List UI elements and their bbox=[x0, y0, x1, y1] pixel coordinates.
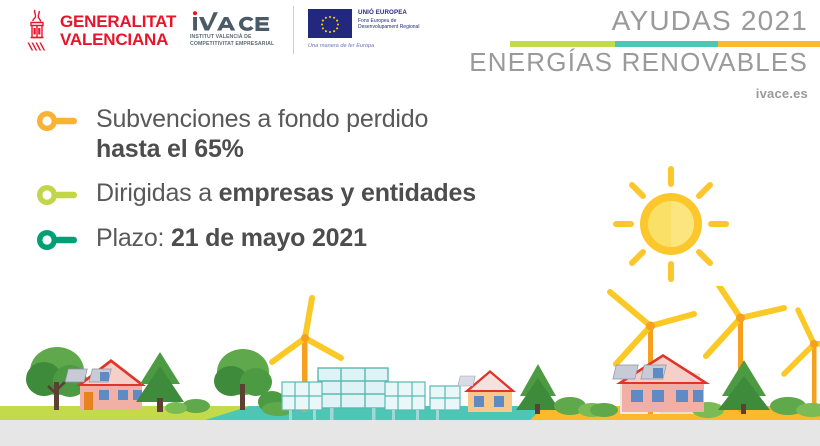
list-item: Subvenciones a fondo perdidohasta el 65% bbox=[36, 104, 596, 164]
heading-energias-renovables: ENERGÍAS RENOVABLES bbox=[388, 46, 808, 78]
ivace-logo: INSTITUT VALENCIÀ DE COMPETITIVITAT EMPR… bbox=[190, 10, 282, 48]
sun-icon bbox=[612, 165, 730, 283]
bullet-list: Subvenciones a fondo perdidohasta el 65%… bbox=[36, 104, 596, 268]
accent-bar-segment-orange bbox=[718, 41, 820, 47]
pine-tree bbox=[516, 364, 560, 414]
logo-divider bbox=[293, 6, 294, 54]
poster-canvas: GENERALITATVALENCIANA INSTITUT VALENCIÀ … bbox=[0, 0, 820, 446]
bullet-dash-icon bbox=[36, 110, 80, 132]
site-url-label: ivace.es bbox=[388, 86, 808, 101]
title-block: AYUDAS 2021 ENERGÍAS RENOVABLES ivace.es bbox=[388, 4, 808, 101]
list-item: Plazo: 21 de mayo 2021 bbox=[36, 223, 596, 254]
generalitat-valenciana-wordmark: GENERALITATVALENCIANA bbox=[60, 13, 176, 49]
ivace-wordmark-icon bbox=[190, 10, 282, 32]
accent-bar bbox=[510, 41, 820, 47]
logo-bar: GENERALITATVALENCIANA INSTITUT VALENCIÀ … bbox=[0, 0, 440, 62]
ivace-subtitle: INSTITUT VALENCIÀ DE COMPETITIVITAT EMPR… bbox=[190, 34, 282, 48]
accent-bar-segment-teal bbox=[615, 41, 717, 47]
list-item-label: Subvenciones a fondo perdidohasta el 65% bbox=[96, 104, 428, 164]
list-item-label: Plazo: 21 de mayo 2021 bbox=[96, 223, 367, 254]
generalitat-valenciana-shield-icon bbox=[22, 8, 52, 54]
pine-tree bbox=[718, 360, 770, 414]
heading-ayudas: AYUDAS 2021 bbox=[388, 4, 808, 38]
bullet-dash-icon bbox=[36, 229, 80, 251]
accent-bar-segment-green bbox=[510, 41, 615, 47]
generalitat-valenciana-logo: GENERALITATVALENCIANA bbox=[22, 8, 176, 54]
list-item-label: Dirigidas a empresas y entidades bbox=[96, 178, 476, 209]
bullet-dash-icon bbox=[36, 184, 80, 206]
footer-strip bbox=[0, 420, 820, 446]
bush bbox=[165, 402, 187, 414]
wind-turbine bbox=[784, 310, 820, 412]
house-with-solar-roof bbox=[458, 370, 516, 412]
european-union-flag-icon bbox=[308, 9, 352, 38]
list-item: Dirigidas a empresas y entidades bbox=[36, 178, 596, 209]
bush bbox=[590, 403, 618, 417]
scene-group-left bbox=[26, 347, 294, 416]
house-with-solar-roof bbox=[613, 354, 710, 412]
